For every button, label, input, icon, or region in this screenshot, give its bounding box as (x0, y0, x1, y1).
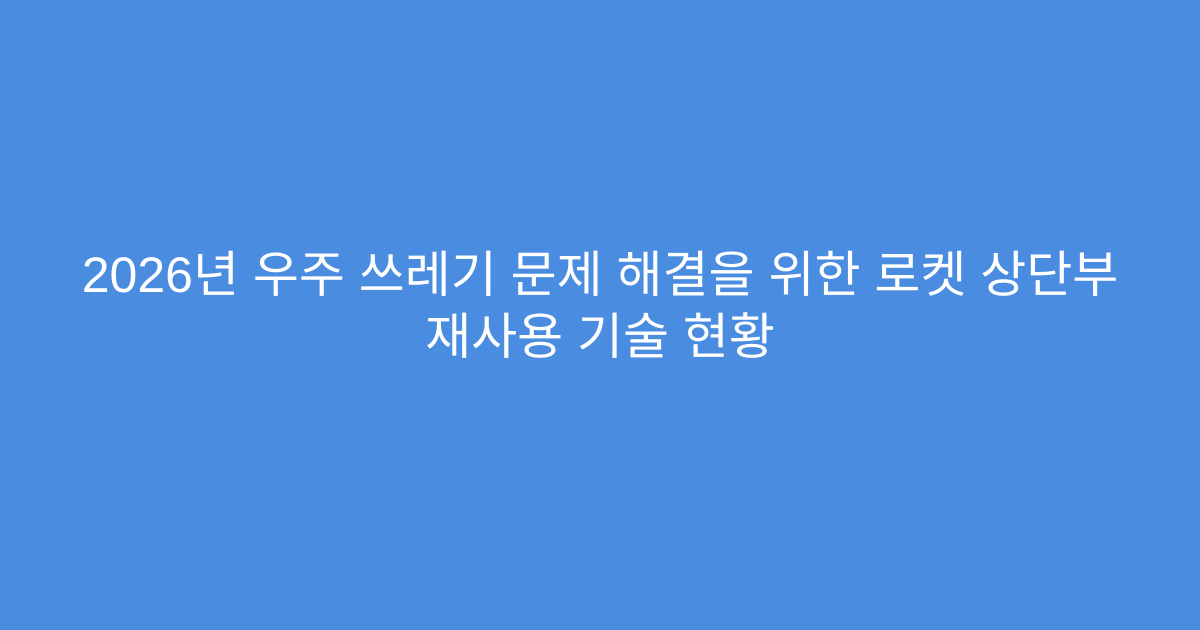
page-title: 2026년 우주 쓰레기 문제 해결을 위한 로켓 상단부 재사용 기술 현황 (70, 244, 1130, 368)
social-share-card: 2026년 우주 쓰레기 문제 해결을 위한 로켓 상단부 재사용 기술 현황 (0, 0, 1200, 630)
card-content-container: 2026년 우주 쓰레기 문제 해결을 위한 로켓 상단부 재사용 기술 현황 (0, 244, 1200, 368)
